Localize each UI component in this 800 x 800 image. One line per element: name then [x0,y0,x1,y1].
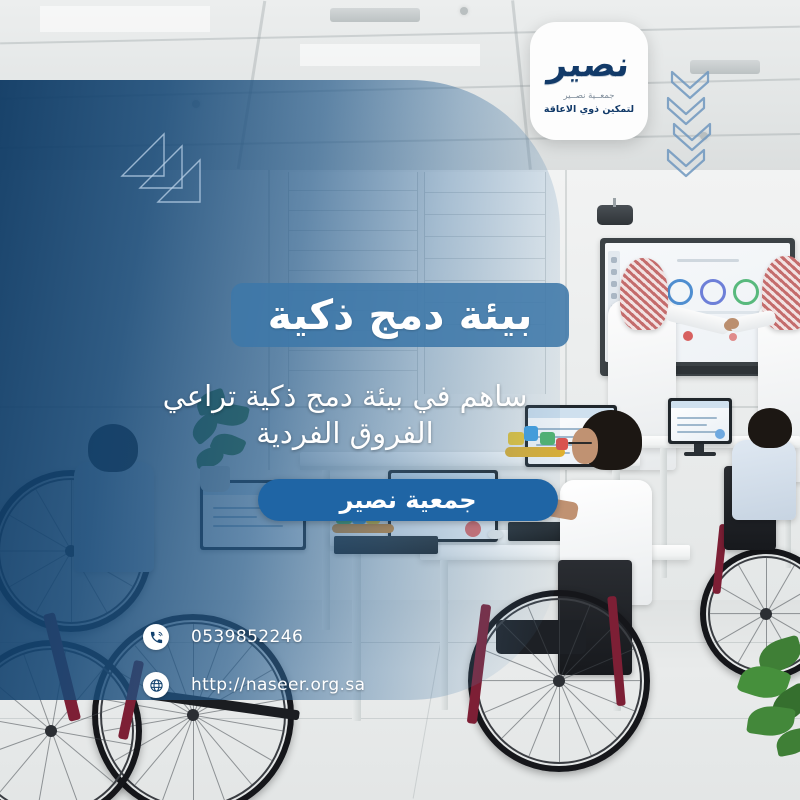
contact-phone-value: 0539852246 [191,627,303,647]
chevron-down-icon-group [664,68,720,178]
logo-wordmark: نصير [547,48,632,82]
headline-subtitle: ساهم في بيئة دمج ذكية تراعي الفروق الفرد… [120,378,570,452]
monitor-right [668,398,732,444]
cta-button-label: جمعية نصير [339,488,476,512]
triangle-motif-icon [118,118,208,208]
poster-canvas: نصير جمعــية نصــير لتمكين ذوي الاعاقة ب… [0,0,800,800]
projector-mount [613,198,616,207]
headline-badge: بيئة دمج ذكية [231,283,569,347]
cta-button[interactable]: جمعية نصير [258,479,558,521]
page-title: بيئة دمج ذكية [268,295,533,336]
phone-icon [143,624,169,650]
projector [597,205,633,225]
contact-row-website[interactable]: http://naseer.org.sa [143,668,365,702]
contact-row-phone[interactable]: 0539852246 [143,620,365,654]
contact-website-value: http://naseer.org.sa [191,675,365,695]
logo-card: نصير جمعــية نصــير لتمكين ذوي الاعاقة [530,22,648,140]
contact-block: 0539852246 http://naseer.org.sa [143,620,365,716]
globe-icon [143,672,169,698]
logo-subtitle-1: جمعــية نصــير [563,91,614,101]
logo-subtitle-2: لتمكين ذوي الاعاقة [544,104,634,115]
